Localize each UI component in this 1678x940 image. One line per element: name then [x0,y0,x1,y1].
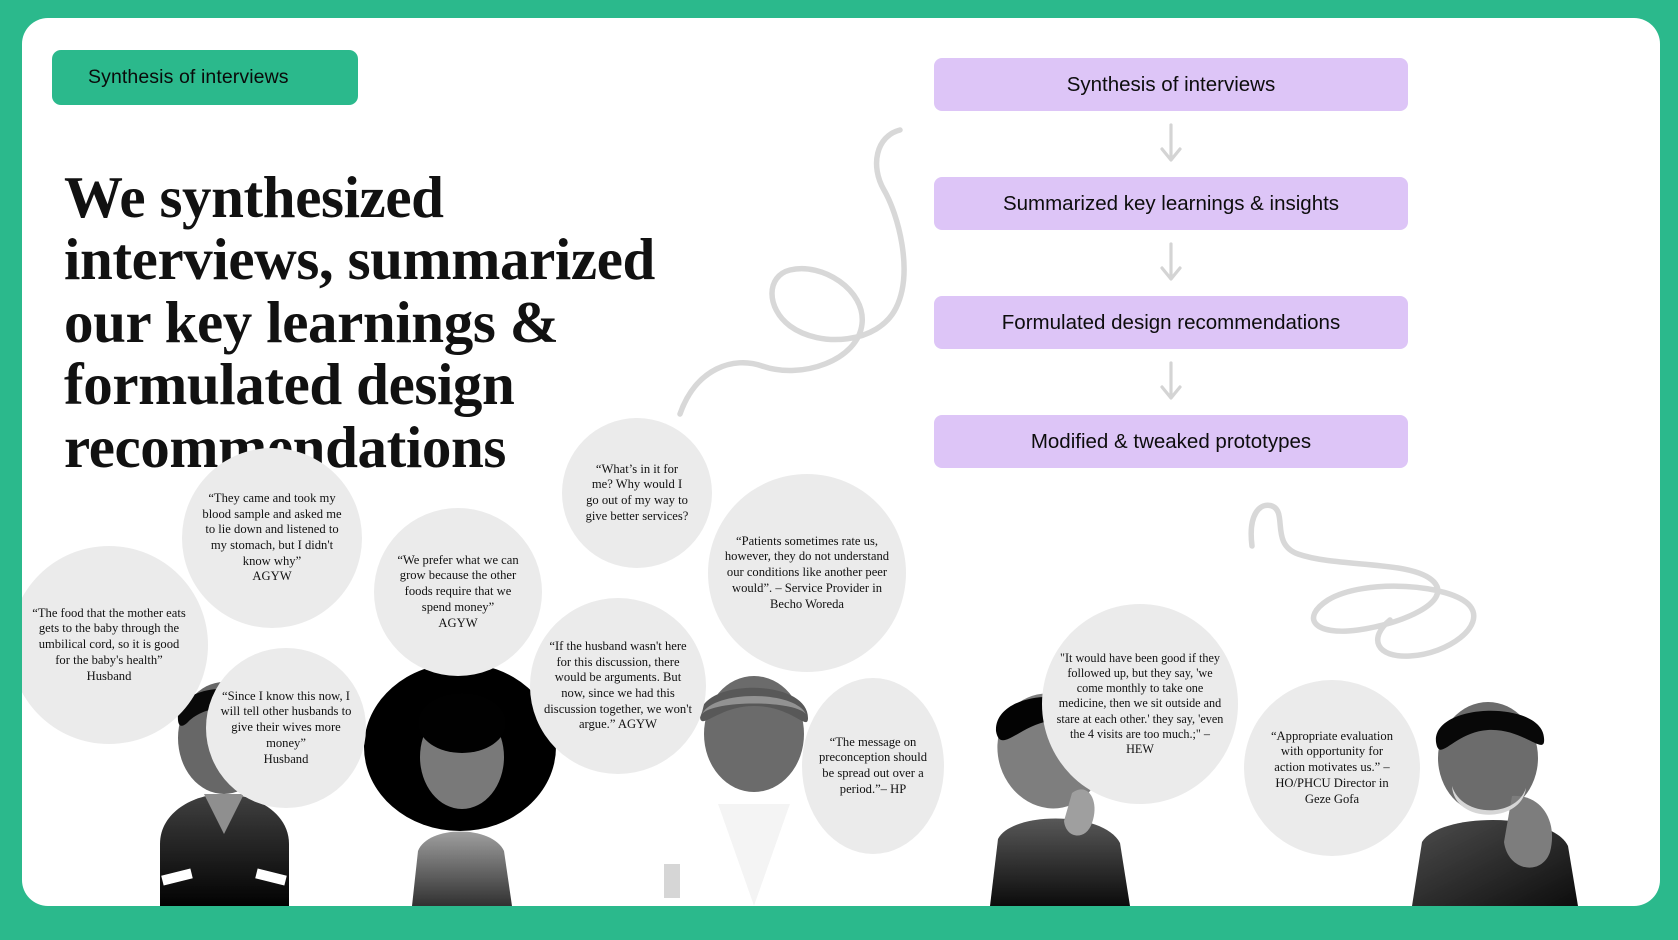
quote-bubble-whats-in-it-for-me[interactable]: “What’s in it for me? Why would I go out… [562,418,712,568]
flow-arrow-1 [934,111,1408,177]
flow-step-4[interactable]: Modified & tweaked prototypes [934,415,1408,468]
quote-bubble-patients-rate-us[interactable]: “Patients sometimes rate us, however, th… [708,474,906,672]
quote-text: “The food that the mother eats gets to t… [30,606,188,685]
quote-text: “The message on preconception should be … [814,735,932,798]
quote-bubble-food-umbilical-cord[interactable]: “The food that the mother eats gets to t… [22,546,208,744]
flow-step-1-label: Synthesis of interviews [1067,73,1276,97]
quote-text: “Patients sometimes rate us, however, th… [724,534,890,613]
quote-text: “We prefer what we can grow because the … [390,553,526,632]
flow-step-2-label: Summarized key learnings & insights [1003,192,1339,216]
portrait-elder-man [1392,676,1592,906]
quote-bubble-preconception-message[interactable]: “The message on preconception should be … [802,678,944,854]
quote-bubble-appropriate-evaluation[interactable]: “Appropriate evaluation with opportunity… [1244,680,1420,856]
flow-step-3[interactable]: Formulated design recommendations [934,296,1408,349]
page-title: We synthesized interviews, summarized ou… [64,166,664,479]
quote-text: "It would have been good if they followe… [1054,651,1226,758]
quote-bubble-blood-sample[interactable]: “They came and took my blood sample and … [182,448,362,628]
flow-step-4-label: Modified & tweaked prototypes [1031,430,1311,454]
arrow-down-icon [1158,122,1184,166]
process-flow-diagram: Synthesis of interviews Summarized key l… [934,58,1408,468]
flow-step-3-label: Formulated design recommendations [1002,311,1340,335]
quote-text: “Since I know this now, I will tell othe… [220,689,352,768]
flow-step-1[interactable]: Synthesis of interviews [934,58,1408,111]
slide-canvas: Synthesis of interviews We synthesized i… [0,0,1678,940]
quote-bubble-tell-other-husbands[interactable]: “Since I know this now, I will tell othe… [206,648,366,808]
quote-bubble-husband-discussion[interactable]: “If the husband wasn't here for this dis… [530,598,706,774]
section-title-label: Synthesis of interviews [52,66,289,89]
quote-bubble-follow-up-visits[interactable]: "It would have been good if they followe… [1042,604,1238,804]
quote-text: “What’s in it for me? Why would I go out… [584,462,690,525]
arrow-down-icon [1158,241,1184,285]
quote-text: “They came and took my blood sample and … [198,491,346,585]
slide-card: Synthesis of interviews We synthesized i… [22,18,1660,906]
squiggle-decoration-top [662,118,922,418]
section-title-pill: Synthesis of interviews [52,50,358,105]
quote-text: “If the husband wasn't here for this dis… [544,639,692,733]
quote-bubble-prefer-grown-food[interactable]: “We prefer what we can grow because the … [374,508,542,676]
flow-step-2[interactable]: Summarized key learnings & insights [934,177,1408,230]
flow-arrow-2 [934,230,1408,296]
flow-arrow-3 [934,349,1408,415]
quote-text: “Appropriate evaluation with opportunity… [1268,729,1396,808]
arrow-down-icon [1158,360,1184,404]
